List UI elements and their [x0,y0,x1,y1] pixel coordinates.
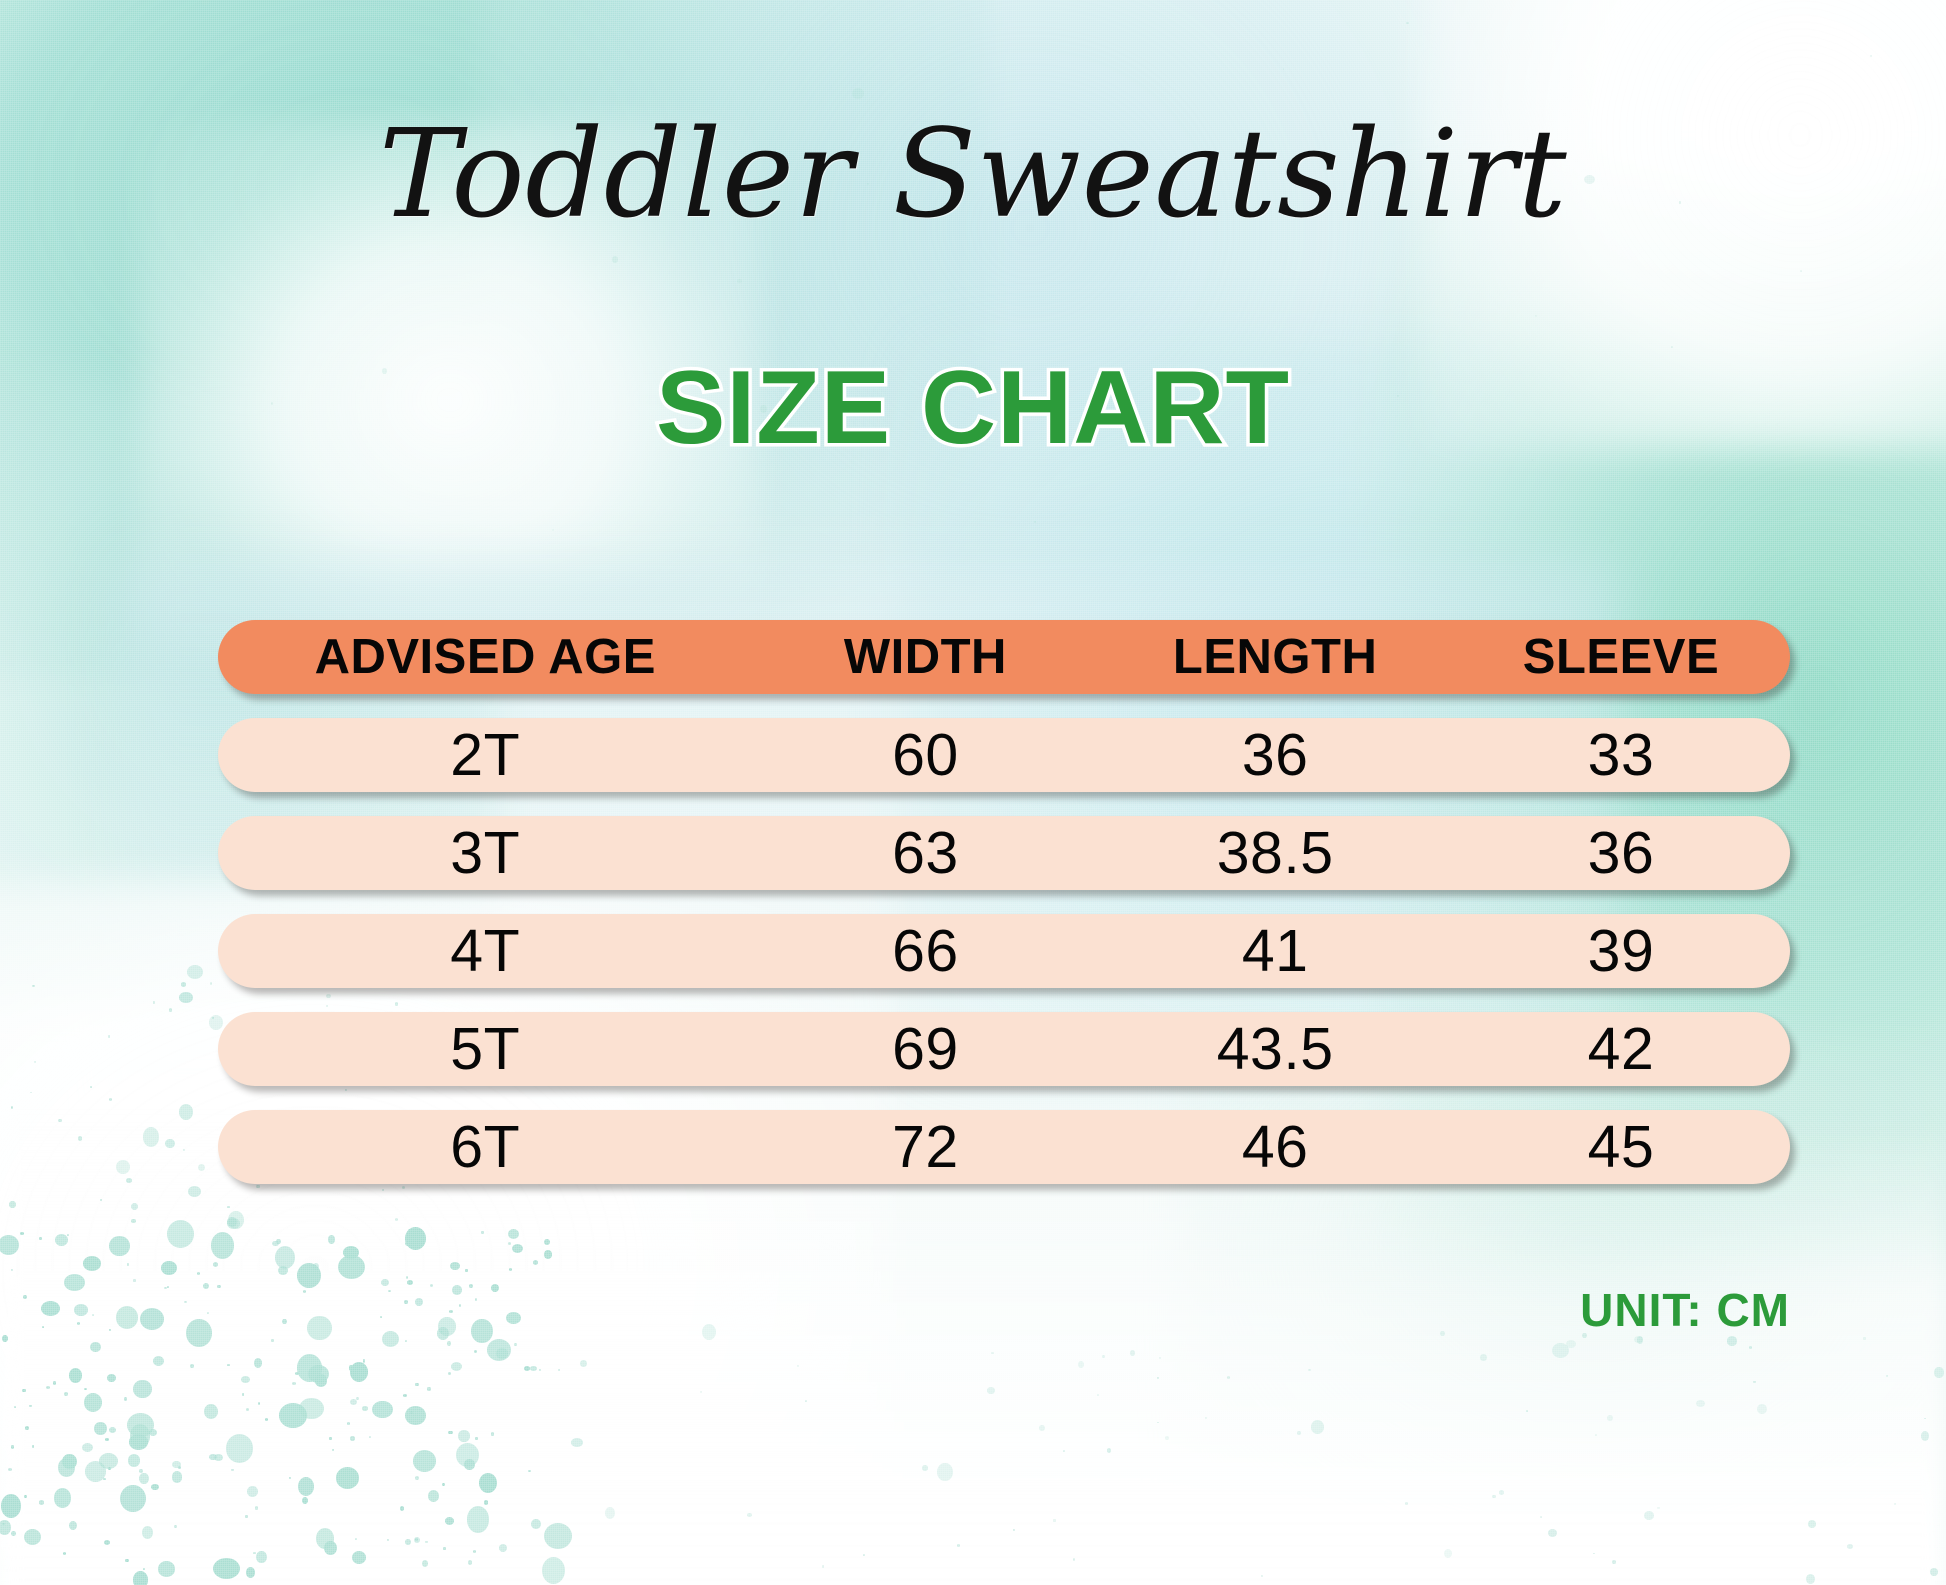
column-header-width: WIDTH [752,633,1098,682]
cell-length: 43.5 [1098,1020,1452,1079]
cell-length: 41 [1098,922,1452,981]
cell-width: 60 [752,726,1098,785]
table-row: 4T 66 41 39 [218,914,1790,988]
table-header-row: ADVISED AGE WIDTH LENGTH SLEEVE [218,620,1790,694]
cell-advised-age: 4T [218,922,752,981]
table-row: 3T 63 38.5 36 [218,816,1790,890]
table-row: 6T 72 46 45 [218,1110,1790,1184]
cell-width: 63 [752,824,1098,883]
cell-advised-age: 3T [218,824,752,883]
size-chart-table: ADVISED AGE WIDTH LENGTH SLEEVE 2T 60 36… [218,620,1790,1208]
table-row: 5T 69 43.5 42 [218,1012,1790,1086]
page-title: Toddler Sweatshirt [0,110,1946,238]
cell-sleeve: 33 [1452,726,1790,785]
column-header-sleeve: SLEEVE [1452,633,1790,682]
cell-length: 36 [1098,726,1452,785]
cell-width: 72 [752,1118,1098,1177]
table-row: 2T 60 36 33 [218,718,1790,792]
cell-width: 66 [752,922,1098,981]
column-header-length: LENGTH [1098,633,1452,682]
cell-width: 69 [752,1020,1098,1079]
cell-sleeve: 42 [1452,1020,1790,1079]
cell-advised-age: 6T [218,1118,752,1177]
cell-length: 46 [1098,1118,1452,1177]
page-subtitle: SIZE CHART [0,356,1946,460]
cell-sleeve: 39 [1452,922,1790,981]
unit-label: UNIT: CM [1580,1283,1790,1337]
cell-sleeve: 36 [1452,824,1790,883]
cell-sleeve: 45 [1452,1118,1790,1177]
cell-length: 38.5 [1098,824,1452,883]
column-header-advised-age: ADVISED AGE [218,633,752,682]
cell-advised-age: 2T [218,726,752,785]
cell-advised-age: 5T [218,1020,752,1079]
size-chart-content: Toddler Sweatshirt SIZE CHART ADVISED AG… [0,0,1946,1585]
